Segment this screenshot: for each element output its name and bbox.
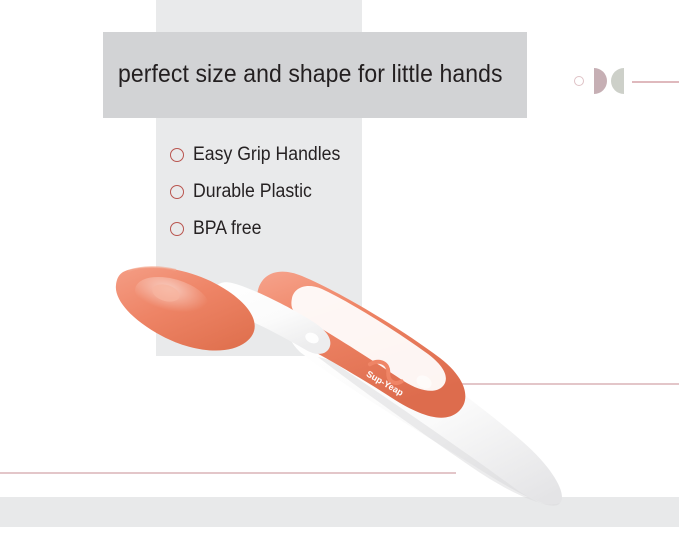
circle-bullet-icon	[170, 222, 184, 236]
bottom-gray-band	[0, 497, 679, 527]
circle-bullet-icon	[170, 185, 184, 199]
pink-accent-line-top	[440, 383, 679, 385]
circle-bullet-icon	[170, 148, 184, 162]
feature-label: Durable Plastic	[193, 181, 312, 203]
list-item: Durable Plastic	[170, 173, 500, 210]
ornament-rule	[632, 81, 679, 83]
product-feature-graphic: perfect size and shape for little hands …	[0, 0, 679, 536]
half-circle-left-facing-icon	[611, 68, 624, 94]
list-item: Easy Grip Handles	[170, 136, 500, 173]
list-item: BPA free	[170, 210, 500, 247]
half-circle-right-facing-icon	[594, 68, 607, 94]
feature-label: BPA free	[193, 218, 261, 240]
brand-logo-text: Sup-Yeap	[365, 369, 406, 398]
feature-label: Easy Grip Handles	[193, 144, 340, 166]
decorative-ornament	[570, 64, 679, 98]
feature-list: Easy Grip Handles Durable Plastic BPA fr…	[170, 136, 500, 247]
pink-accent-line-bottom	[0, 472, 456, 474]
page-title: perfect size and shape for little hands	[118, 58, 486, 90]
small-circle-outline-icon	[574, 76, 584, 86]
